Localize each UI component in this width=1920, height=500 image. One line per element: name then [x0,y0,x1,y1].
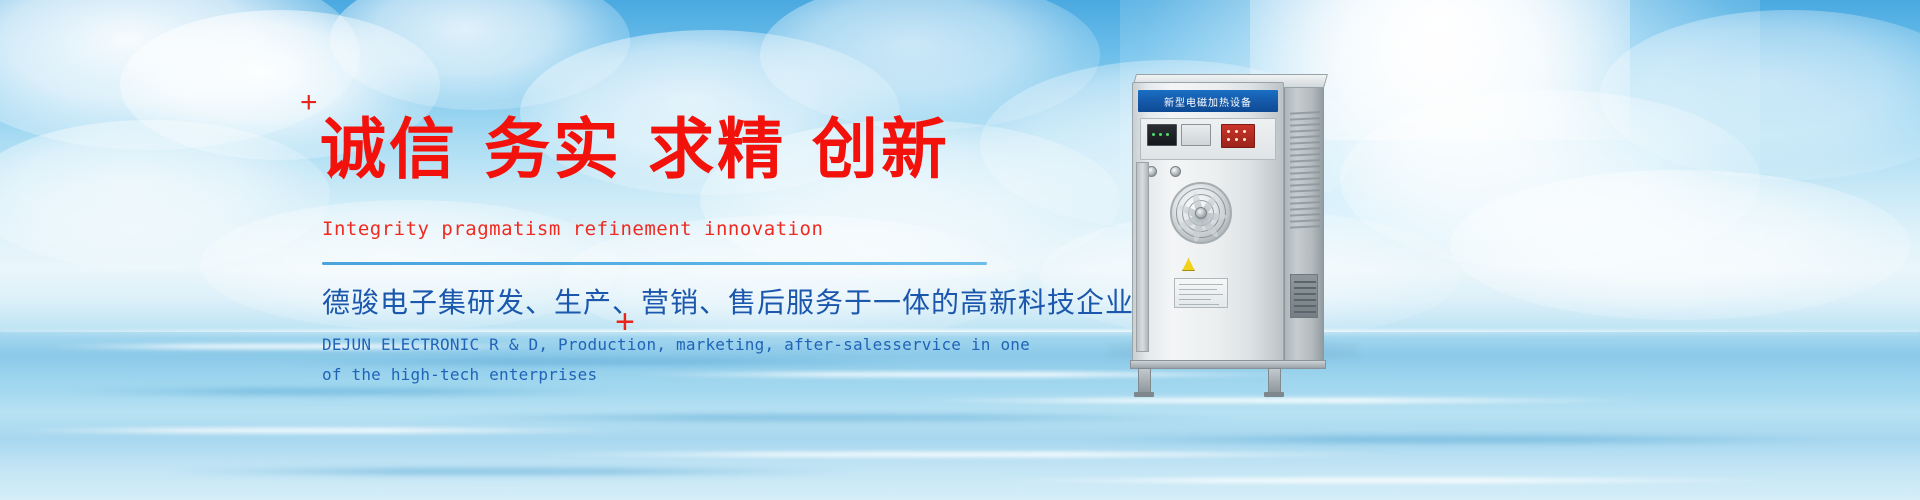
spec-plate-line [1179,289,1217,290]
machine-vent-slot [1290,213,1320,217]
machine-vent-slot [1290,135,1320,139]
display-led [1152,133,1155,136]
keypad-key [1235,130,1238,133]
fan-hub [1195,207,1207,219]
lower-vent-slot [1294,305,1316,307]
lower-vent-slot [1294,299,1316,301]
machine-product-label-text: 新型电磁加热设备 [1164,94,1252,109]
machine-product-label: 新型电磁加热设备 [1138,90,1278,112]
keypad-key [1243,138,1246,141]
machine-leg [1138,368,1151,394]
machine-vent-slot [1290,123,1320,127]
machine-vent-slot [1290,201,1320,205]
headline-english: Integrity pragmatism refinement innovati… [322,218,823,241]
machine-side-panel [1284,74,1324,364]
cloud-puff [1600,10,1920,180]
machine-foot [1264,392,1284,397]
lower-vent-slot [1294,293,1316,295]
machine-vent-slot [1290,195,1320,199]
plus-decoration-bottom: + [615,305,635,339]
wave-highlight [980,478,1800,483]
subheading-english-line-1: DEJUN ELECTRONIC R & D, Production, mark… [322,330,1030,360]
machine-fan-grille [1170,182,1232,244]
machine-spec-plate [1174,278,1228,308]
machine-control-panel [1140,118,1276,160]
subheading-english: DEJUN ELECTRONIC R & D, Production, mark… [322,330,1030,389]
machine-left-door-strip [1136,162,1149,352]
machine-vent-slot [1290,147,1320,151]
machine-vent-slot [1290,183,1320,187]
machine-vent-slot [1290,141,1320,145]
cloud-puff [1340,90,1760,270]
machine-vent-slot [1290,165,1320,169]
machine-vent-slot [1290,117,1320,121]
plus-decoration-top: + [300,88,318,118]
machine-vent-slot [1290,153,1320,157]
machine-vent-slot [1290,225,1320,229]
machine-analog-gauge [1181,124,1211,146]
keypad-key [1227,130,1230,133]
divider-rule [322,262,987,265]
keypad-key [1243,130,1246,133]
machine-vent-slot [1290,219,1320,223]
headline-chinese: 诚信 务实 求精 创新 [320,116,950,185]
spec-plate-line [1179,294,1223,295]
wave-shadow [1080,436,1840,443]
machine-vent-slot [1290,189,1320,193]
machine-foot [1134,392,1154,397]
display-led [1159,133,1162,136]
subheading-chinese: 德骏电子集研发、生产、营销、售后服务于一体的高新科技企业 [322,285,1134,320]
subheading-english-line-2: of the high-tech enterprises [322,360,1030,390]
spec-plate-line [1179,304,1219,305]
machine-digital-display [1147,124,1177,146]
banner-text-block: + 诚信 务实 求精 创新 Integrity pragmatism refin… [0,0,1100,500]
machine-vent-slot [1290,159,1320,163]
display-led [1166,133,1169,136]
machine-vent-slot [1290,177,1320,181]
product-machine-image: 新型电磁加热设备 [1118,62,1338,362]
machine-vent-slot [1290,129,1320,133]
machine-keypad [1221,124,1255,148]
lower-vent-slot [1294,311,1316,313]
machine-vent-slot [1290,171,1320,175]
spec-plate-line [1179,284,1223,285]
cloud-puff [1450,170,1910,320]
keypad-key [1235,138,1238,141]
spec-plate-line [1179,299,1211,300]
promotional-banner: + 诚信 务实 求精 创新 Integrity pragmatism refin… [0,0,1920,500]
lower-vent-slot [1294,287,1316,289]
machine-control-knob [1170,166,1181,177]
machine-leg [1268,368,1281,394]
machine-lower-vent-box [1290,274,1318,318]
machine-vent-slot [1290,207,1320,211]
machine-base-plate [1130,360,1326,369]
machine-vent-slot [1290,111,1320,115]
keypad-key [1227,138,1230,141]
lower-vent-slot [1294,281,1316,283]
